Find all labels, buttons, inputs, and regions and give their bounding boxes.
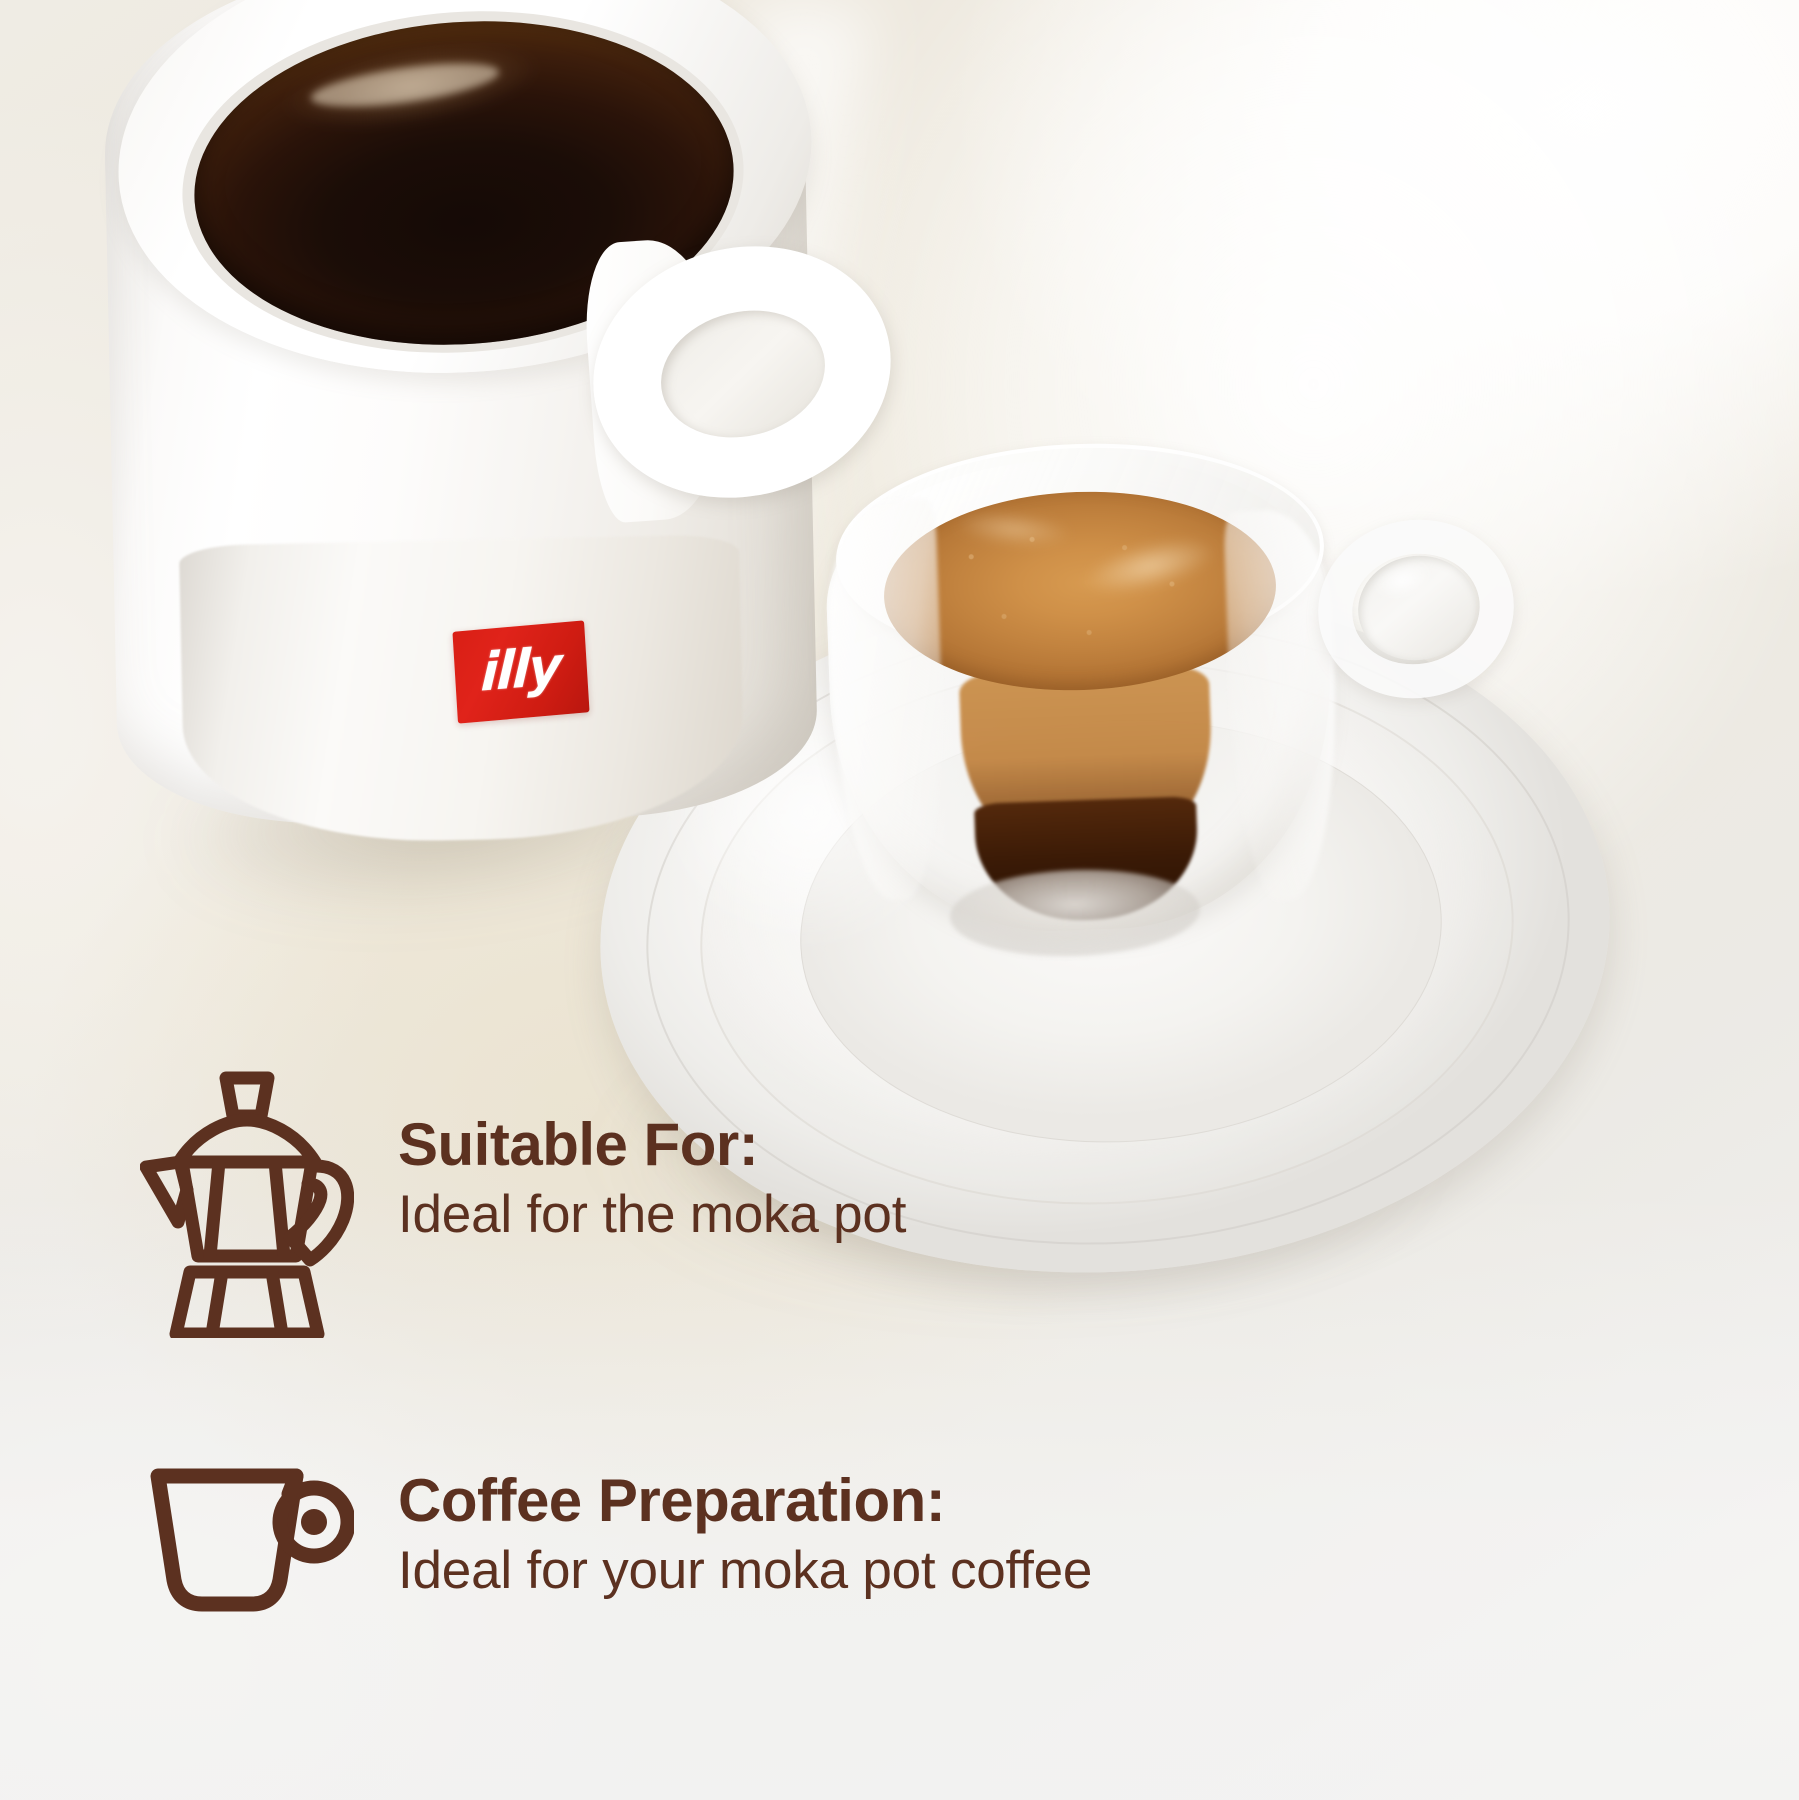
product-feature-card: illy xyxy=(0,0,1799,1800)
coffee-cup-icon xyxy=(148,1462,354,1619)
glass-wall-left xyxy=(825,498,949,902)
feature-suitable-for-title: Suitable For: xyxy=(398,1114,906,1175)
moka-pot-icon xyxy=(140,1070,354,1343)
feature-coffee-preparation: Coffee Preparation: Ideal for your moka … xyxy=(148,1462,1092,1619)
illy-logo: illy xyxy=(452,620,589,723)
feature-coffee-preparation-text: Coffee Preparation: Ideal for your moka … xyxy=(398,1462,1092,1599)
feature-suitable-for: Suitable For: Ideal for the moka pot xyxy=(140,1070,906,1343)
feature-coffee-preparation-description: Ideal for your moka pot coffee xyxy=(398,1543,1092,1599)
illy-logo-text: illy xyxy=(480,640,561,699)
glass-espresso-cup xyxy=(830,400,1350,940)
feature-suitable-for-text: Suitable For: Ideal for the moka pot xyxy=(398,1070,906,1243)
feature-suitable-for-description: Ideal for the moka pot xyxy=(398,1187,906,1243)
feature-coffee-preparation-title: Coffee Preparation: xyxy=(398,1470,1092,1531)
